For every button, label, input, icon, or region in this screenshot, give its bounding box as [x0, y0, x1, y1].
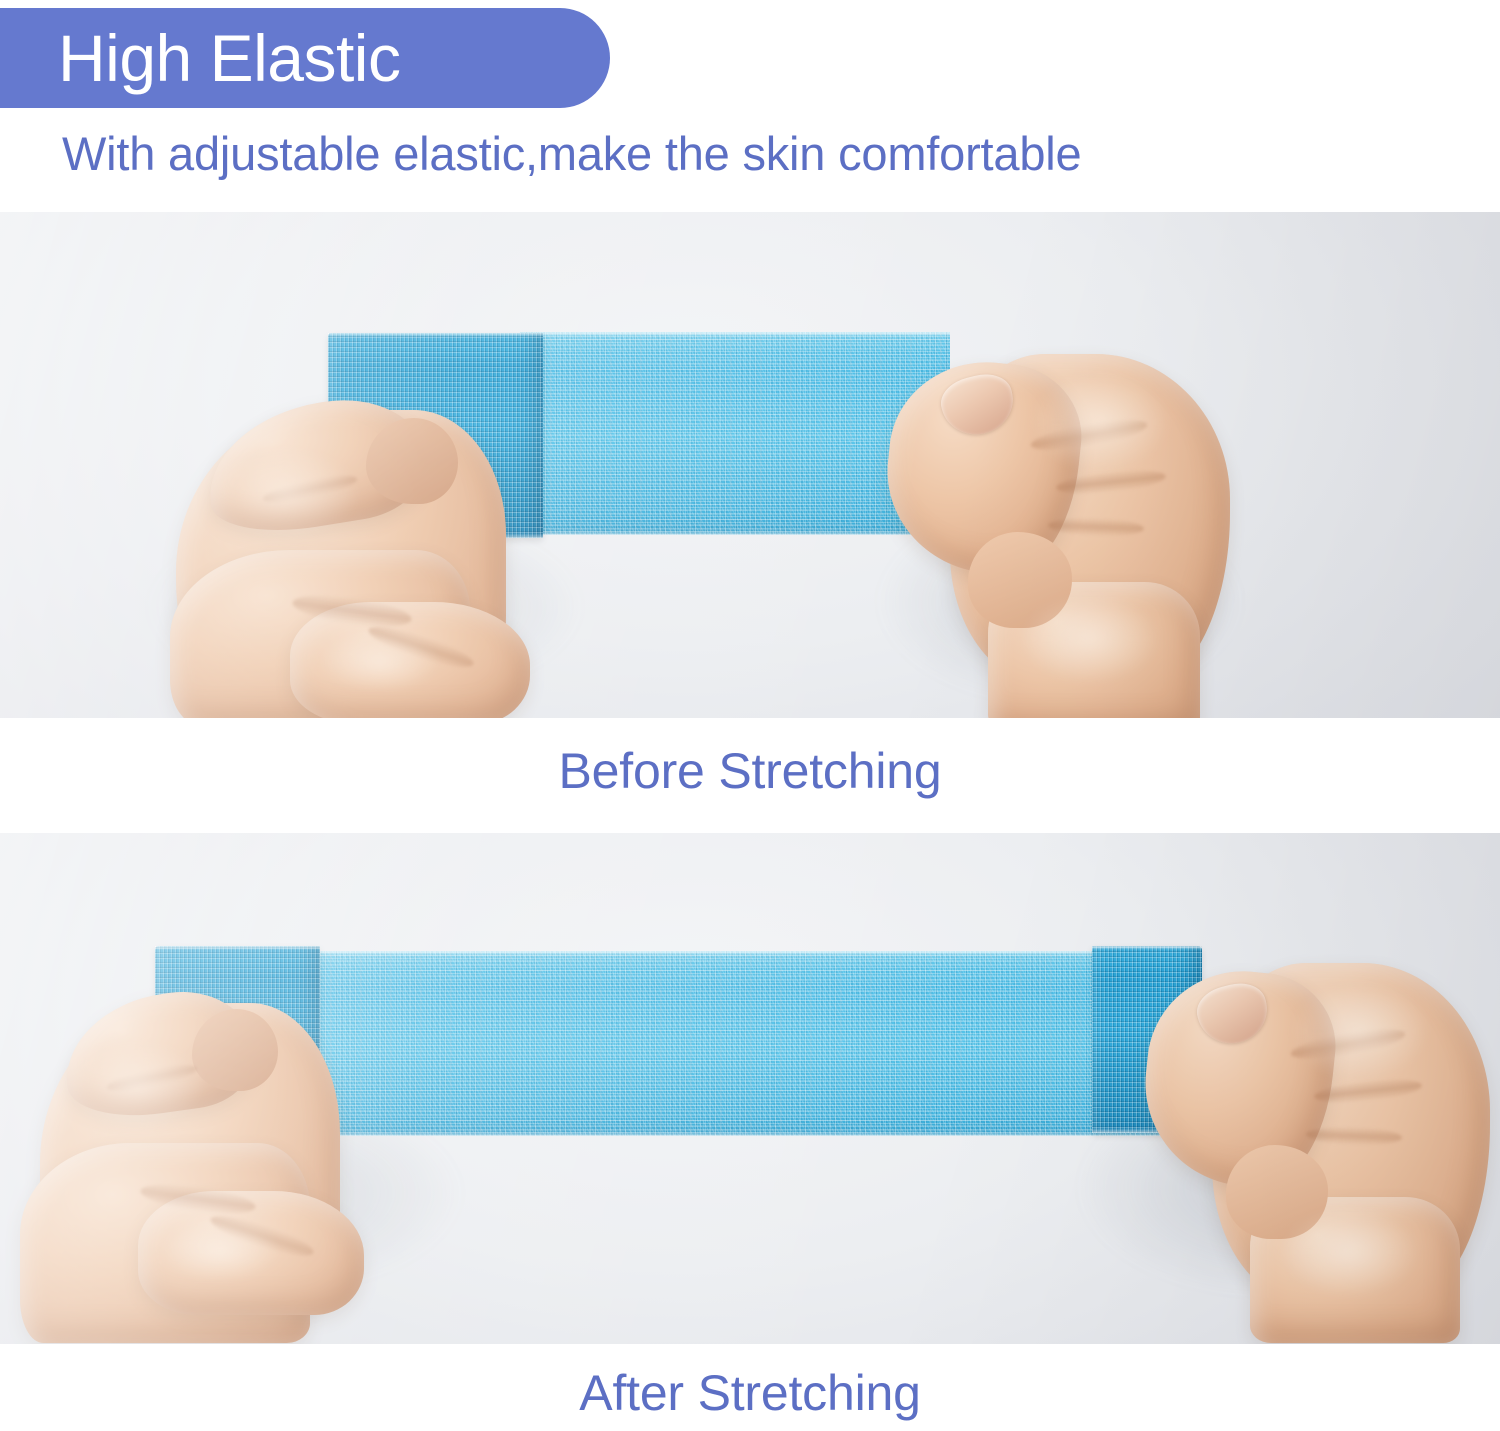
left-hand-thumb-tip: [366, 418, 458, 504]
bandage-knit-texture: [300, 951, 1160, 1136]
skin-highlight: [1020, 594, 1160, 684]
skin-highlight: [66, 1041, 206, 1129]
skin-highlight: [1280, 1207, 1420, 1297]
skin-highlight: [1030, 372, 1170, 472]
left-hand: [20, 943, 420, 1343]
caption-before-stretching: Before Stretching: [0, 742, 1500, 800]
bandage-top-edge: [328, 333, 543, 337]
high-elastic-badge: High Elastic: [0, 8, 610, 108]
product-feature-image: { "header": { "badge_label": "High Elast…: [0, 0, 1500, 1431]
bandage-top-edge: [300, 951, 1160, 955]
right-hand: [880, 332, 1280, 718]
caption-after-stretching: After Stretching: [0, 1364, 1500, 1422]
right-hand: [1140, 943, 1500, 1343]
bandage-bottom-edge: [300, 1131, 1160, 1136]
subtitle-text: With adjustable elastic,make the skin co…: [62, 128, 1442, 181]
skin-highlight: [320, 632, 440, 692]
bandage-stretched-section: [300, 951, 1160, 1136]
left-hand: [170, 352, 600, 718]
photo-after-stretching: [0, 833, 1500, 1344]
photo-before-stretching: [0, 212, 1500, 718]
badge-label: High Elastic: [58, 25, 400, 91]
skin-highlight: [210, 448, 360, 538]
skin-highlight: [1290, 981, 1430, 1081]
skin-highlight: [160, 1221, 280, 1281]
